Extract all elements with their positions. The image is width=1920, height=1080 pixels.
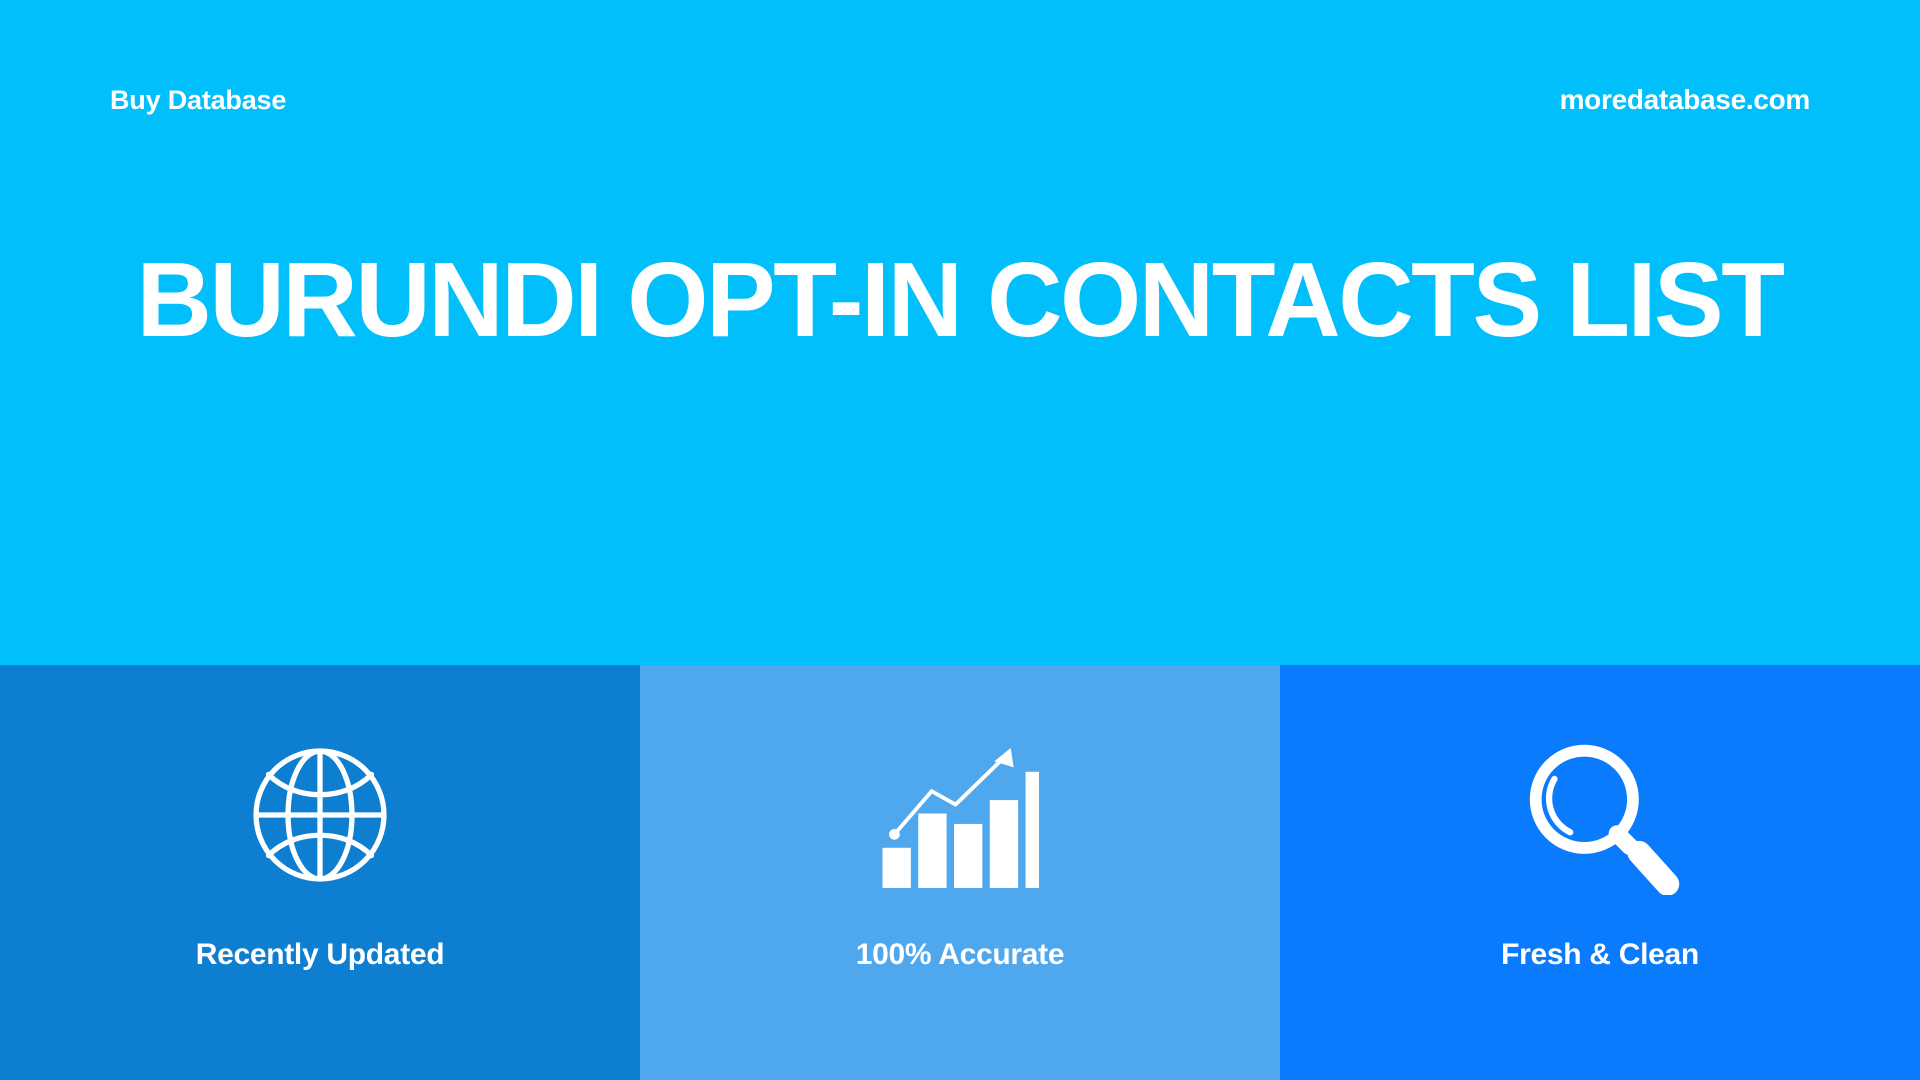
feature-panels: Recently Updated: [0, 665, 1920, 1080]
growth-bar-chart-icon: [876, 700, 1044, 930]
brand-name: Buy Database: [110, 85, 286, 116]
hero-section: Buy Database moredatabase.com BURUNDI OP…: [0, 0, 1920, 665]
page-title: BURUNDI OPT-IN CONTACTS LIST: [137, 247, 1783, 353]
feature-label-accurate: 100% Accurate: [856, 938, 1064, 972]
feature-label-recently-updated: Recently Updated: [196, 938, 445, 972]
headline-container: BURUNDI OPT-IN CONTACTS LIST: [0, 247, 1920, 353]
feature-card-recently-updated: Recently Updated: [0, 665, 640, 1080]
feature-card-accurate: 100% Accurate: [640, 665, 1280, 1080]
globe-icon: [242, 700, 398, 930]
feature-card-fresh-clean: Fresh & Clean: [1280, 665, 1920, 1080]
website-url: moredatabase.com: [1560, 84, 1810, 116]
header-bar: Buy Database moredatabase.com: [0, 0, 1920, 200]
feature-label-fresh-clean: Fresh & Clean: [1501, 938, 1699, 972]
magnifier-icon: [1518, 700, 1682, 930]
promo-banner: Buy Database moredatabase.com BURUNDI OP…: [0, 0, 1920, 1080]
